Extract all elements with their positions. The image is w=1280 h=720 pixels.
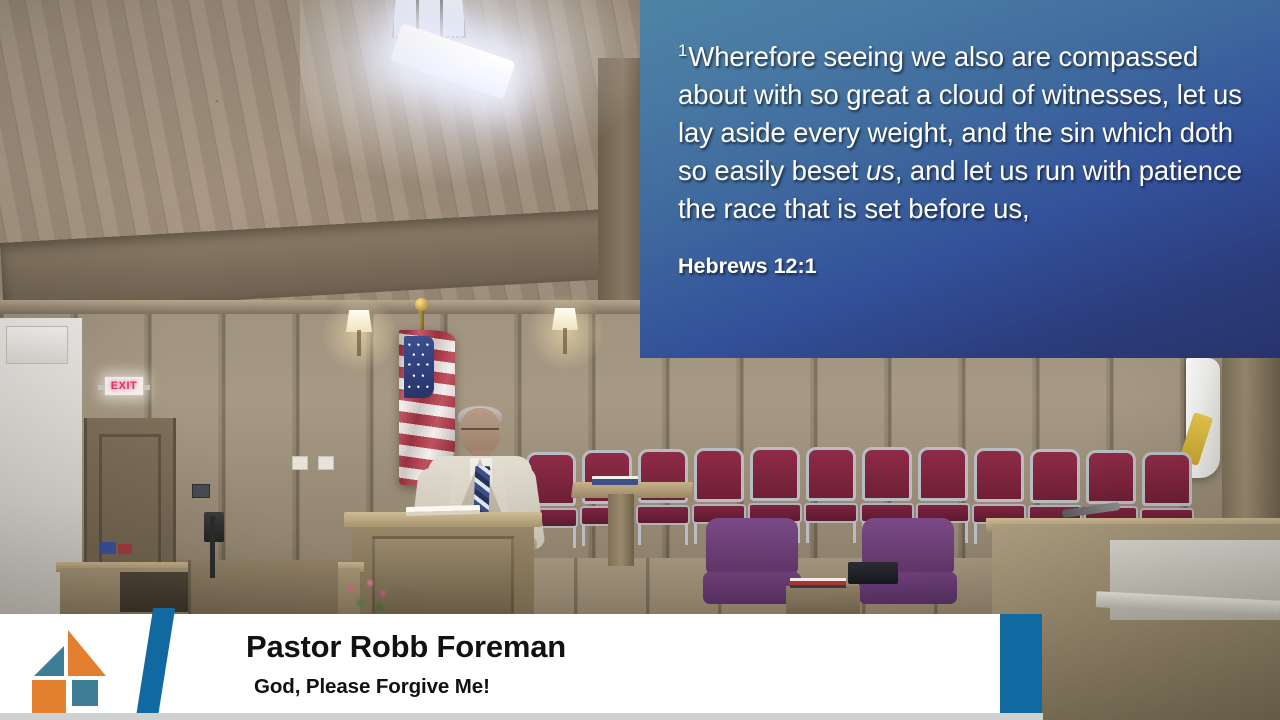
black-bible	[848, 562, 898, 584]
logo-square-teal-icon	[72, 680, 98, 706]
chair-back	[862, 447, 912, 501]
chair-back	[1086, 450, 1136, 504]
wall-plate-2	[318, 456, 334, 470]
speaker-name: Pastor Robb Foreman	[246, 631, 1000, 664]
logo-triangle-orange-icon	[68, 630, 106, 676]
logo-mark	[34, 628, 106, 702]
chair-back	[974, 448, 1024, 502]
chair-back	[1142, 452, 1192, 506]
microphone-stand	[210, 516, 215, 578]
chair-back	[694, 448, 744, 502]
flag-pole-finial	[415, 298, 428, 311]
sconce-shade-left	[346, 310, 372, 332]
chair-seat	[636, 505, 690, 525]
verse-emphasis-word: us	[866, 155, 895, 186]
scripture-verse-text: 1Wherefore seeing we also are compassed …	[678, 38, 1250, 228]
sconce-arm-left	[357, 330, 361, 356]
wall-sconce-left	[346, 310, 372, 332]
american-flag-canton	[404, 336, 434, 398]
exit-sign: EXIT	[104, 376, 144, 396]
chair-back	[918, 447, 968, 501]
exit-sign-label: EXIT	[111, 380, 137, 392]
scripture-reference: Hebrews 12:1	[678, 254, 1250, 279]
banner-bottom-edge	[0, 713, 1043, 720]
choir-chair	[802, 447, 860, 543]
wall-plate-1	[292, 456, 308, 470]
banner-accent-slash	[128, 614, 188, 716]
scripture-overlay-panel: 1Wherefore seeing we also are compassed …	[640, 0, 1280, 358]
chair-back	[750, 447, 800, 501]
exit-sign-bracket-left	[98, 385, 105, 390]
book-stack	[790, 578, 846, 588]
lower-third-banner: Pastor Robb Foreman God, Please Forgive …	[0, 614, 1000, 716]
wall-sconce-right	[552, 308, 578, 330]
side-lectern-post	[608, 494, 634, 566]
exit-sign-bracket-right	[143, 385, 150, 390]
sermon-title: God, Please Forgive Me!	[246, 675, 1000, 699]
red-object-on-rail	[118, 544, 132, 554]
sconce-arm-right	[563, 328, 567, 354]
chair-legs	[806, 521, 856, 543]
logo-triangle-teal-icon	[34, 646, 64, 676]
lantern-mullion-right	[440, 0, 443, 38]
slash-bar-icon	[135, 608, 175, 720]
verse-number: 1	[678, 41, 687, 60]
banner-text-group: Pastor Robb Foreman God, Please Forgive …	[188, 614, 1000, 716]
chair-back	[1030, 449, 1080, 503]
banner-blue-end-block	[1000, 614, 1042, 716]
church-logo	[0, 614, 128, 716]
chair-seat	[804, 503, 858, 523]
wall-switch-plate	[192, 484, 210, 498]
side-lectern-book	[592, 476, 638, 485]
logo-square-orange-icon	[32, 680, 66, 714]
chair-legs	[638, 523, 688, 545]
sconce-shade-right	[552, 308, 578, 330]
armchair-back	[706, 518, 798, 574]
pastor-glasses	[461, 428, 499, 436]
chair-back	[806, 447, 856, 501]
wall-vent	[6, 326, 68, 364]
blue-object-on-rail	[100, 542, 116, 554]
platform-armchair-left	[706, 518, 798, 614]
livestream-frame: EXIT	[0, 0, 1280, 720]
open-bible-on-pulpit	[406, 505, 480, 516]
